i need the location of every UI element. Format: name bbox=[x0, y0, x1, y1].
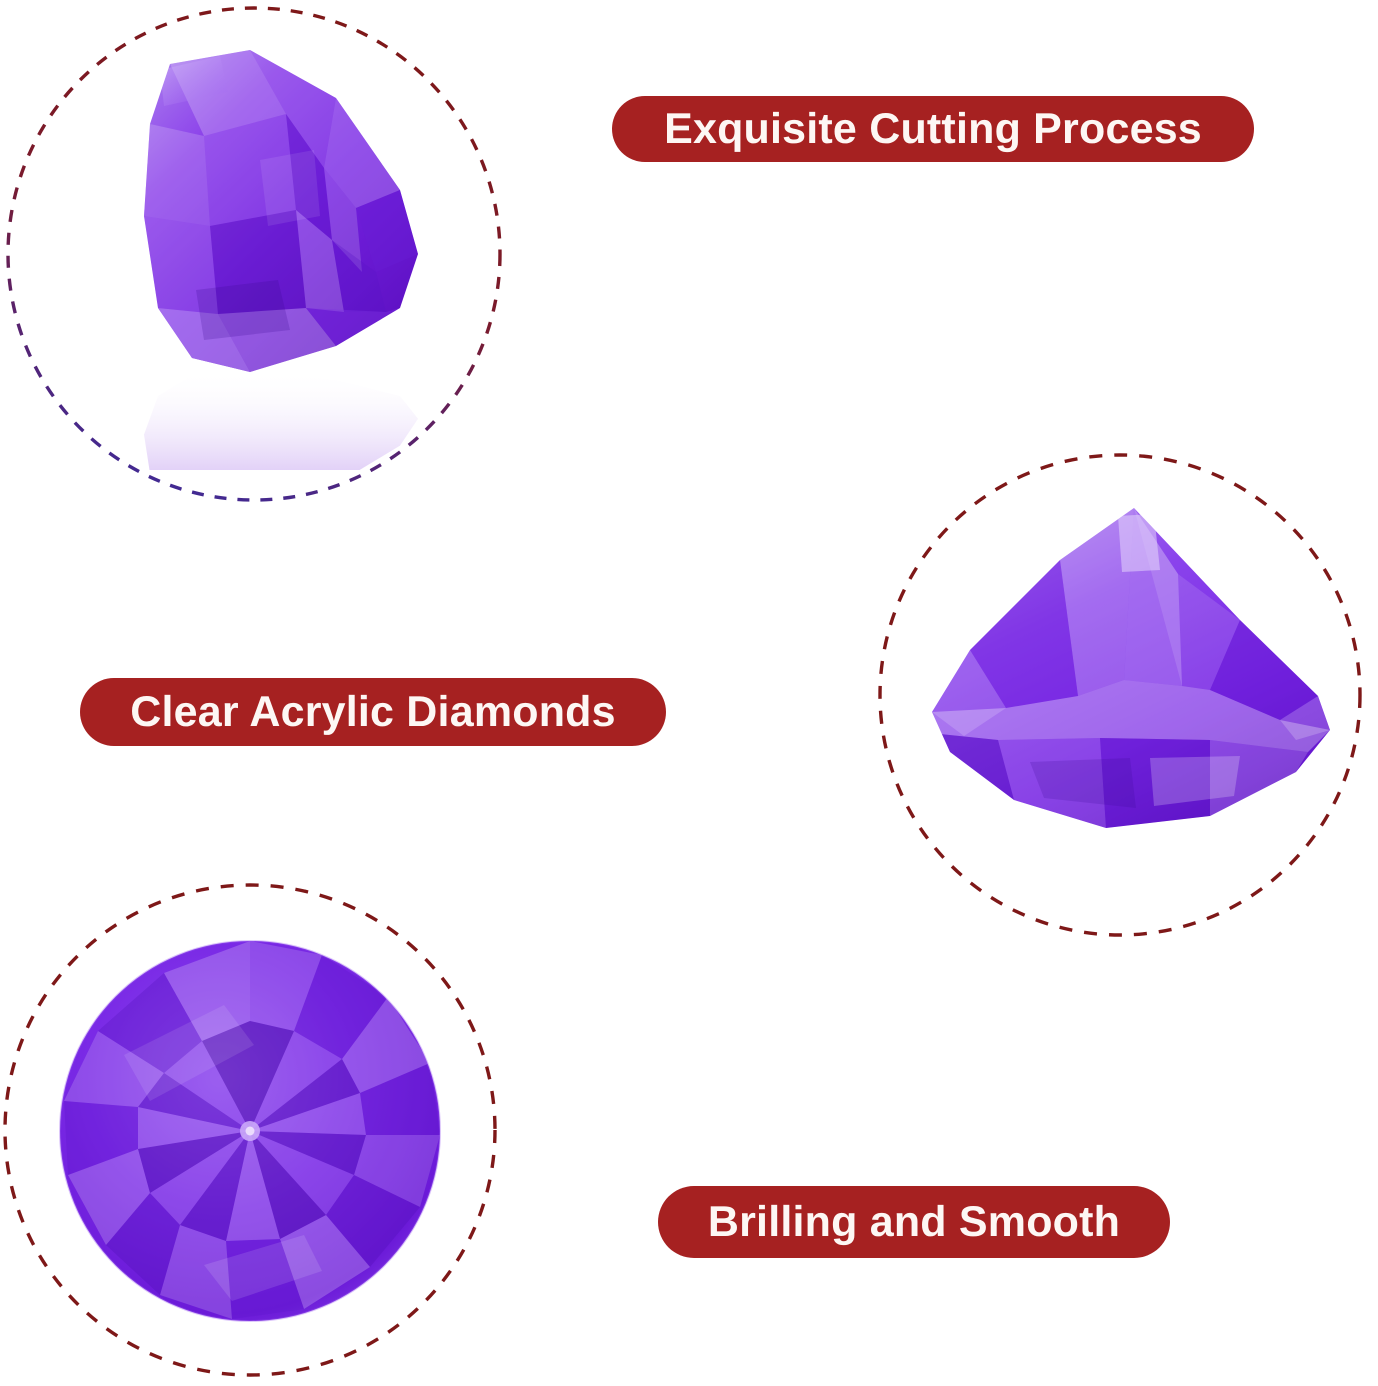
gem-facets bbox=[144, 50, 418, 372]
feature-badge-exquisite-cutting-process[interactable]: Exquisite Cutting Process bbox=[612, 96, 1254, 162]
gem-reflection bbox=[144, 369, 418, 470]
feature-badge-label: Clear Acrylic Diamonds bbox=[130, 688, 616, 737]
diamond-side-view-icon bbox=[100, 40, 430, 470]
feature-badge-clear-acrylic-diamonds[interactable]: Clear Acrylic Diamonds bbox=[80, 678, 666, 746]
diamond-cone-view-icon bbox=[910, 500, 1350, 850]
feature-badge-label: Brilling and Smooth bbox=[708, 1198, 1120, 1247]
diamond-top-view-icon bbox=[54, 935, 446, 1327]
feature-badge-brilling-and-smooth[interactable]: Brilling and Smooth bbox=[658, 1186, 1170, 1258]
feature-badge-label: Exquisite Cutting Process bbox=[664, 105, 1202, 154]
infographic-canvas: Exquisite Cutting Process bbox=[0, 0, 1378, 1386]
gem-facets bbox=[932, 508, 1330, 828]
